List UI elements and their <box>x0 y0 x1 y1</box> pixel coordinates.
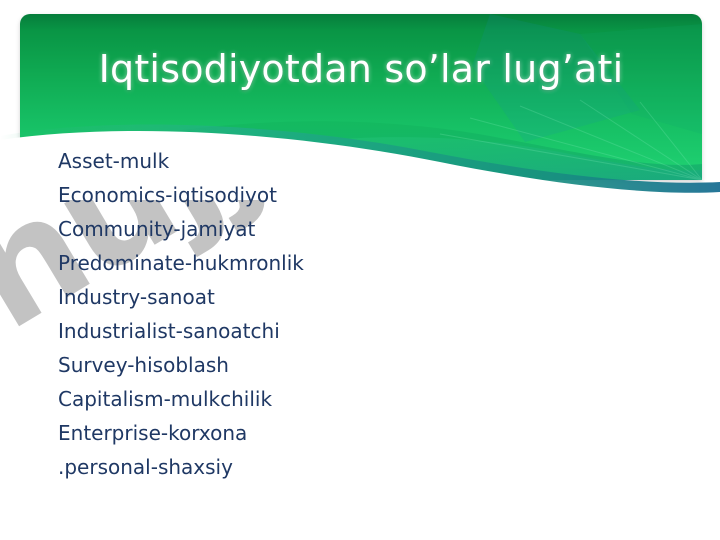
list-item: Industry-sanoat <box>58 280 658 314</box>
list-item: Predominate-hukmronlik <box>58 246 658 280</box>
list-item: Survey-hisoblash <box>58 348 658 382</box>
presentation-slide: hujjat <box>0 0 720 540</box>
list-item: Enterprise-korxona <box>58 416 658 450</box>
list-item: Economics-iqtisodiyot <box>58 178 658 212</box>
list-item: Asset-mulk <box>58 144 658 178</box>
list-item: Industrialist-sanoatchi <box>58 314 658 348</box>
list-item: .personal-shaxsiy <box>58 450 658 484</box>
list-item: Community-jamiyat <box>58 212 658 246</box>
page-title: Iqtisodiyotdan so’lar lug’ati <box>20 14 702 124</box>
glossary-list: Asset-mulk Economics-iqtisodiyot Communi… <box>58 144 658 484</box>
list-item: Capitalism-mulkchilik <box>58 382 658 416</box>
